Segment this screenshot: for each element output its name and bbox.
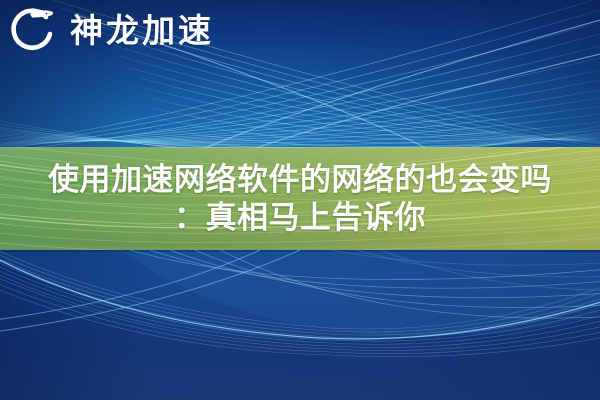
headline-line-2: ：真相马上告诉你 <box>174 199 426 237</box>
dragon-ring-icon <box>6 4 60 58</box>
brand-name: 神龙加速 <box>70 11 214 51</box>
brand-logo[interactable]: 神龙加速 <box>6 4 214 58</box>
headline-line-1: 使用加速网络软件的网络的也会变吗 <box>48 161 552 199</box>
headline-text-block: 使用加速网络软件的网络的也会变吗 ：真相马上告诉你 <box>0 147 600 250</box>
promo-banner: 神龙加速 使用加速网络软件的网络的也会变吗 ：真相马上告诉你 <box>0 0 600 400</box>
background-bottom-shade <box>0 250 600 400</box>
